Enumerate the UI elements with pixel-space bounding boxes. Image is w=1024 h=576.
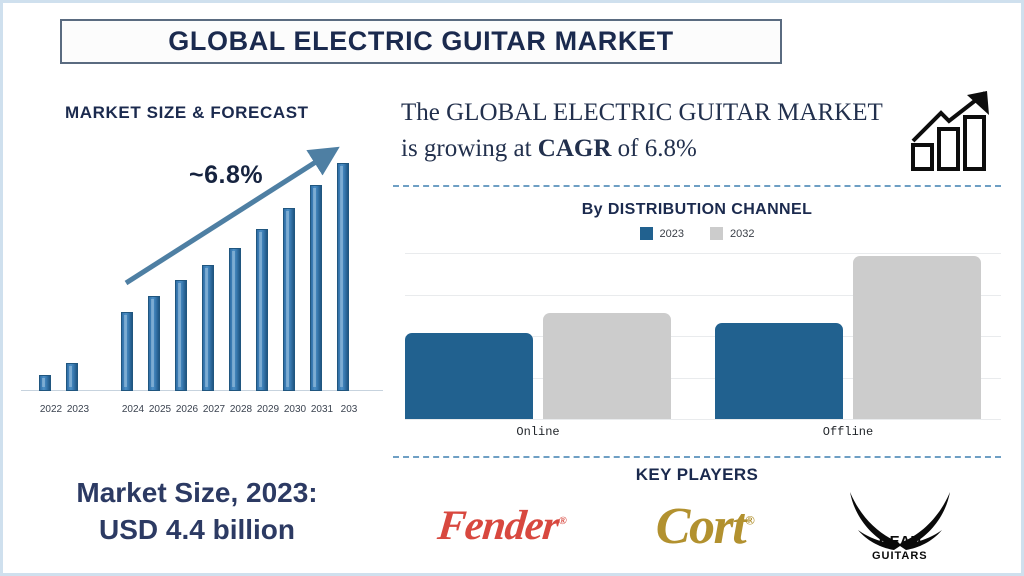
- cort-logo: Cort®: [656, 497, 754, 556]
- legend-item[interactable]: 2023: [640, 227, 684, 240]
- distribution-channel-heading: By DISTRIBUTION CHANNEL: [393, 201, 1001, 219]
- distribution-category-label: Online: [405, 425, 671, 439]
- forecast-bar: [148, 296, 160, 391]
- legend-item[interactable]: 2032: [710, 227, 754, 240]
- forecast-bar: [175, 280, 187, 391]
- cagr-statement: The GLOBAL ELECTRIC GUITAR MARKET is gro…: [401, 95, 901, 166]
- market-size-forecast-chart: 2022202320242025202620272028202920302031…: [11, 135, 383, 433]
- forecast-bar: [39, 375, 51, 391]
- page-title-box: GLOBAL ELECTRIC GUITAR MARKET: [60, 19, 782, 64]
- cagr-annotation: ~6.8%: [189, 161, 263, 190]
- cagr-statement-emphasis: CAGR: [538, 135, 612, 162]
- dean-wordmark: DEAN: [879, 533, 922, 550]
- key-players-heading: KEY PLAYERS: [393, 465, 1001, 485]
- market-size-line-1: Market Size, 2023:: [11, 475, 383, 512]
- forecast-bar: [66, 363, 78, 391]
- forecast-bar: [121, 312, 133, 391]
- cort-registered-mark: ®: [745, 512, 753, 527]
- grid-line: [405, 419, 1001, 420]
- dean-guitars-logo: DEAN GUITARS: [844, 488, 956, 564]
- cort-logo-text: Cort: [656, 498, 745, 555]
- forecast-bar: [256, 229, 268, 391]
- forecast-bar: [337, 163, 349, 391]
- divider-top: [393, 185, 1001, 187]
- legend-label: 2023: [660, 228, 684, 240]
- distribution-bar: [405, 333, 533, 419]
- distribution-bar: [853, 256, 981, 419]
- market-size-forecast-heading: MARKET SIZE & FORECAST: [65, 103, 309, 123]
- forecast-bar: [310, 185, 322, 391]
- forecast-bar: [283, 208, 295, 391]
- fender-registered-mark: ®: [558, 515, 566, 527]
- fender-logo-text: Fender: [436, 503, 561, 549]
- forecast-year-label: 203: [332, 404, 366, 415]
- forecast-bar: [202, 265, 214, 391]
- legend-swatch: [710, 227, 723, 240]
- dean-guitars-subtext: GUITARS: [844, 550, 956, 562]
- distribution-bar: [715, 323, 843, 419]
- distribution-bar: [543, 313, 671, 419]
- key-players-logos: Fender® Cort® DEAN GUITARS: [393, 485, 1001, 567]
- right-panel: The GLOBAL ELECTRIC GUITAR MARKET is gro…: [393, 81, 1015, 567]
- market-size-line-2: USD 4.4 billion: [11, 512, 383, 549]
- infographic-root: GLOBAL ELECTRIC GUITAR MARKET MARKET SIZ…: [0, 0, 1024, 576]
- forecast-bar: [229, 248, 241, 391]
- grid-line: [405, 253, 1001, 254]
- distribution-channel-chart: OnlineOffline: [405, 253, 1001, 419]
- divider-bottom: [393, 456, 1001, 458]
- legend-label: 2032: [730, 228, 754, 240]
- distribution-chart-legend: 20232032: [393, 227, 1001, 240]
- fender-logo: Fender®: [436, 502, 568, 550]
- bar-chart-growth-icon: [909, 89, 1005, 171]
- market-size-callout: Market Size, 2023: USD 4.4 billion: [11, 475, 383, 549]
- market-size-forecast-panel: MARKET SIZE & FORECAST 20222023202420252…: [11, 83, 383, 563]
- cagr-statement-part-2: of 6.8%: [611, 135, 696, 162]
- distribution-category-label: Offline: [715, 425, 981, 439]
- page-title: GLOBAL ELECTRIC GUITAR MARKET: [168, 26, 673, 57]
- forecast-year-label: 2023: [61, 404, 95, 415]
- legend-swatch: [640, 227, 653, 240]
